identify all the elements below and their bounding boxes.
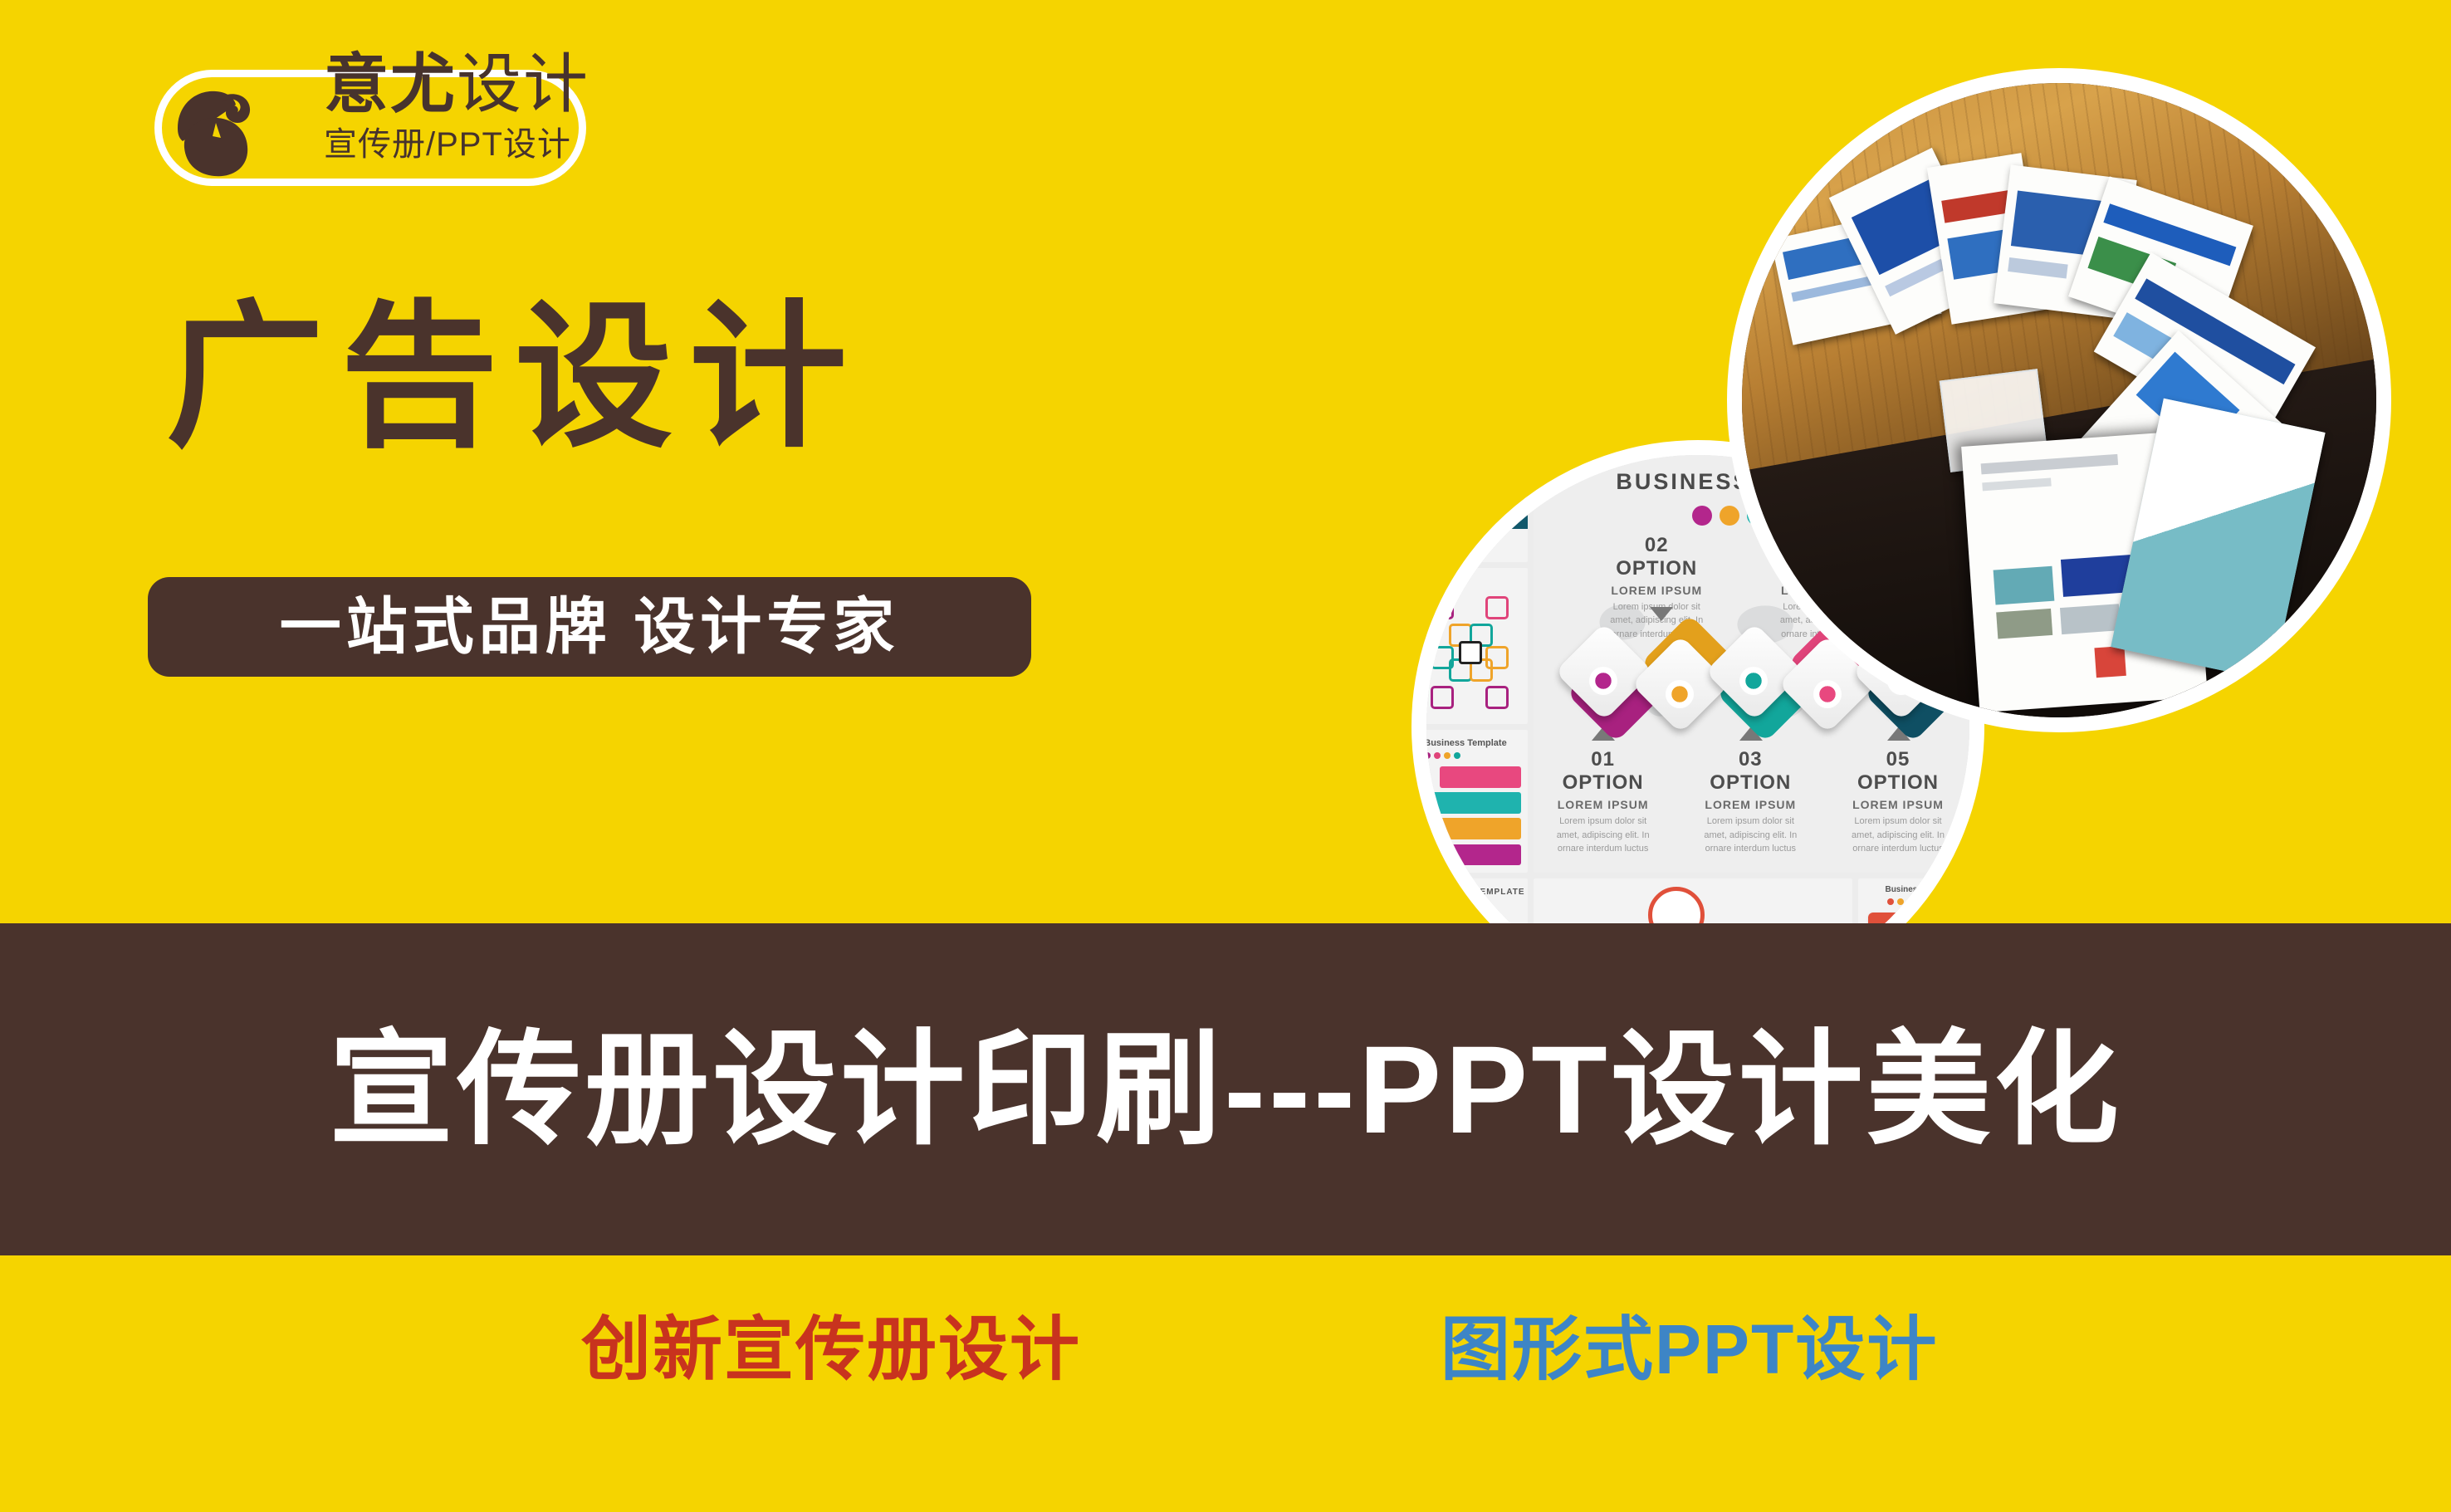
footer-tags: 创新宣传册设计 图形式PPT设计 <box>0 1279 2451 1420</box>
option-01-label: 01 OPTION LOREM IPSUM Lorem ipsum dolor … <box>1556 748 1650 856</box>
brand-name: 意尤设计 <box>324 51 598 116</box>
footer-tag-brochure: 创新宣传册设计 <box>581 1314 1081 1384</box>
main-banner: 宣传册设计印刷---PPT设计美化 <box>0 923 2451 1255</box>
hero-subtitle-pill: 一站式品牌 设计专家 <box>148 577 1031 677</box>
brochure-photo-circle-image <box>1727 68 2391 732</box>
footer-tag-ppt: 图形式PPT设计 <box>1441 1314 1938 1384</box>
slide-thumb-cross-nodes <box>1415 568 1528 724</box>
slide-thumb-pyramid: Business Template <box>1415 730 1528 873</box>
slide-thumb-banners <box>1415 443 1528 562</box>
hero-subtitle-text: 一站式品牌 设计专家 <box>280 596 900 658</box>
banner-text: 宣传册设计印刷---PPT设计美化 <box>329 1027 2122 1152</box>
leaf-sprout-logo-icon <box>163 76 267 181</box>
brand-logo-text: 意尤设计 宣传册/PPT设计 <box>324 51 598 209</box>
option-03-label: 03 OPTION LOREM IPSUM Lorem ipsum dolor … <box>1704 748 1798 856</box>
page-title: 广告设计 <box>166 299 863 457</box>
poster-canvas: 意尤设计 宣传册/PPT设计 广告设计 一站式品牌 设计专家 <box>0 0 2451 1512</box>
brand-tagline: 宣传册/PPT设计 <box>324 128 598 161</box>
photo-scene <box>1742 83 2376 717</box>
option-05-label: 05 OPTION LOREM IPSUM Lorem ipsum dolor … <box>1851 748 1945 856</box>
